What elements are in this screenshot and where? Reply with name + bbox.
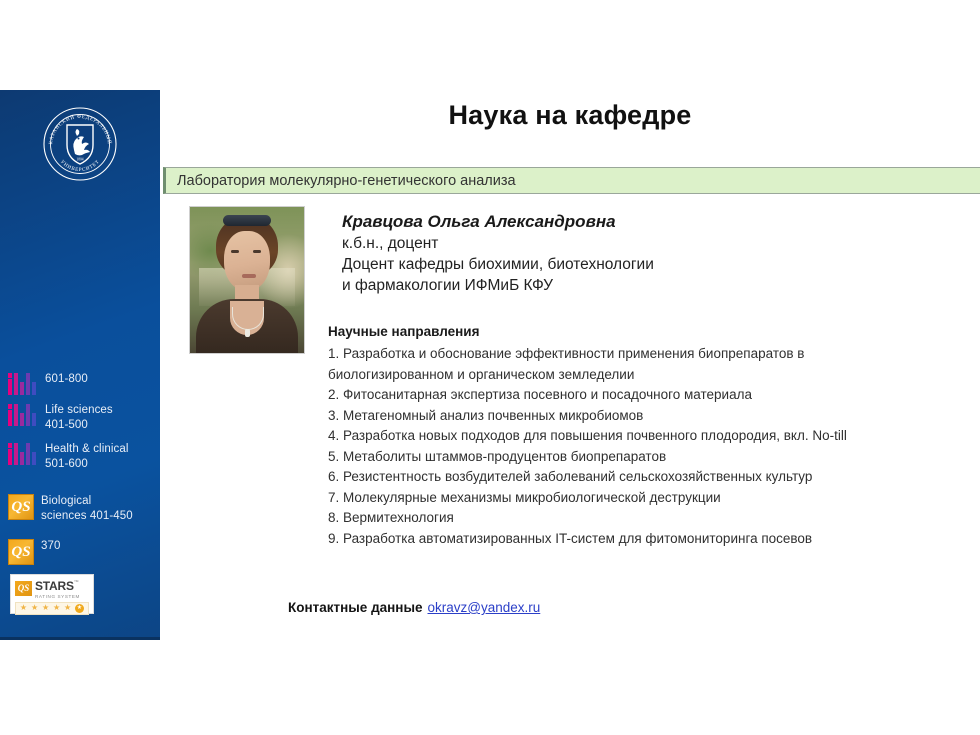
ranking-label: 370 xyxy=(41,539,61,554)
slide-canvas: КАЗАНСКИЙ ФЕДЕРАЛЬНЫЙ УНИВЕРСИТЕТ 1804 xyxy=(0,0,980,735)
kfu-seal-icon: КАЗАНСКИЙ ФЕДЕРАЛЬНЫЙ УНИВЕРСИТЕТ 1804 xyxy=(41,105,119,183)
lab-banner: Лаборатория молекулярно-генетического ан… xyxy=(163,167,980,194)
list-item: 2. Фитосанитарная экспертиза посевного и… xyxy=(328,385,900,406)
qs-mark-icon: QS xyxy=(15,581,32,596)
qs-logo-icon: QS xyxy=(8,494,34,520)
lab-banner-text: Лаборатория молекулярно-генетического ан… xyxy=(166,173,516,189)
contact-block: Контактные данные okravz@yandex.ru xyxy=(288,600,540,615)
ranking-row: QS Biological sciences 401-450 xyxy=(8,494,160,524)
list-item: 3. Метагеномный анализ почвенных микроби… xyxy=(328,406,900,427)
list-item: 1. Разработка и обоснование эффективност… xyxy=(328,344,900,385)
contact-email-link[interactable]: okravz@yandex.ru xyxy=(428,600,541,615)
list-item: 5. Метаболиты штаммов-продуцентов биопре… xyxy=(328,447,900,468)
star-icon: ★ xyxy=(53,604,60,612)
photo-face xyxy=(224,231,270,291)
person-position-line-2: и фармакологии ИФМиБ КФУ xyxy=(342,275,902,296)
qs-stars-badge: QS STARS™ RATING SYSTEM ★ ★ ★ ★ ★ ★ xyxy=(10,574,94,614)
ranking-row: Health & clinical 501-600 xyxy=(8,442,160,472)
page-title: Наука на кафедре xyxy=(170,100,970,131)
person-degree: к.б.н., доцент xyxy=(342,233,902,254)
list-item: 4. Разработка новых подходов для повышен… xyxy=(328,426,900,447)
photo-mouth xyxy=(242,274,256,278)
star-icon: ★ xyxy=(20,604,27,612)
the-logo-icon xyxy=(8,404,38,426)
ranking-row: 601-800 xyxy=(8,372,160,395)
list-item: 6. Резистентность возбудителей заболеван… xyxy=(328,467,900,488)
list-item: 9. Разработка автоматизированных IT-сист… xyxy=(328,529,900,550)
qs-stars-rating-row: ★ ★ ★ ★ ★ ★ xyxy=(15,602,89,615)
the-logo-icon xyxy=(8,373,38,395)
the-logo-icon xyxy=(8,443,38,465)
qs-logo-icon: QS xyxy=(8,539,34,565)
qs-stars-header: QS STARS™ RATING SYSTEM xyxy=(15,578,89,600)
sidebar: КАЗАНСКИЙ ФЕДЕРАЛЬНЫЙ УНИВЕРСИТЕТ 1804 xyxy=(0,90,160,640)
ranking-label: 601-800 xyxy=(45,372,88,387)
portrait-photo xyxy=(189,206,305,354)
pendant-icon xyxy=(245,329,250,337)
list-item: 7. Молекулярные механизмы микробиологиче… xyxy=(328,488,900,509)
contact-label: Контактные данные xyxy=(288,600,423,615)
qs-stars-wordmark: STARS™ RATING SYSTEM xyxy=(35,578,80,600)
ranking-row: Life sciences 401-500 xyxy=(8,403,160,433)
person-info: Кравцова Ольга Александровна к.б.н., доц… xyxy=(342,211,902,296)
sidebar-bottom-edge xyxy=(0,637,160,640)
star-badge-dot-icon: ★ xyxy=(75,604,84,613)
trademark-mark: ™ xyxy=(74,580,79,586)
research-directions: Научные направления 1. Разработка и обос… xyxy=(328,322,900,549)
list-item: 8. Вермитехнология xyxy=(328,508,900,529)
qs-stars-subtitle: RATING SYSTEM xyxy=(35,595,80,600)
person-name: Кравцова Ольга Александровна xyxy=(342,211,902,233)
star-icon: ★ xyxy=(64,604,71,612)
ranking-label: Life sciences 401-500 xyxy=(45,403,113,433)
svg-text:1804: 1804 xyxy=(76,158,83,162)
star-icon: ★ xyxy=(31,604,38,612)
ranking-label: Health & clinical 501-600 xyxy=(45,442,129,472)
star-icon: ★ xyxy=(42,604,49,612)
person-position-line-1: Доцент кафедры биохимии, биотехнологии xyxy=(342,254,902,275)
research-heading: Научные направления xyxy=(328,322,900,342)
sunglasses-icon xyxy=(223,215,271,226)
ranking-row: QS 370 xyxy=(8,539,160,565)
qs-stars-title: STARS xyxy=(35,579,74,593)
ranking-label: Biological sciences 401-450 xyxy=(41,494,133,524)
photo-eye-left xyxy=(231,250,239,253)
photo-eye-right xyxy=(253,250,261,253)
